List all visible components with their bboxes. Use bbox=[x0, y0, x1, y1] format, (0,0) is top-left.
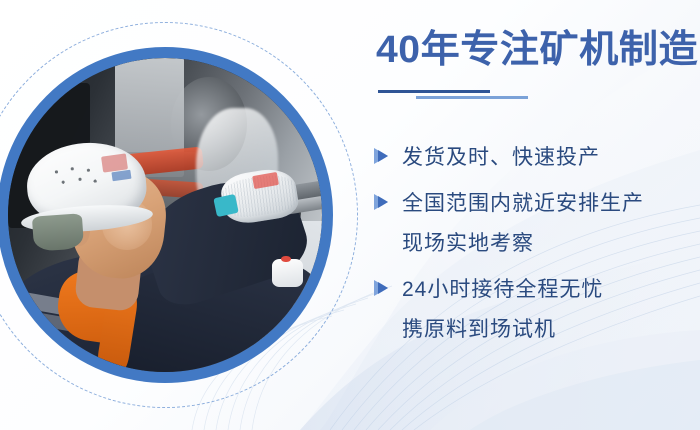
content-panel: 40年专注矿机制造 发货及时、快速投产 全国范围内就近安排生产 现场实地考察 bbox=[372, 0, 700, 430]
headline-rule-dark bbox=[378, 90, 490, 93]
list-item-text: 全国范围内就近安排生产 bbox=[402, 187, 644, 217]
promo-banner: 40年专注矿机制造 发货及时、快速投产 全国范围内就近安排生产 现场实地考察 bbox=[0, 0, 700, 430]
triangle-right-icon bbox=[372, 279, 392, 297]
worker-photo bbox=[0, 47, 333, 383]
triangle-right-icon bbox=[372, 193, 392, 211]
triangle-right-icon bbox=[372, 147, 392, 165]
headline: 40年专注矿机制造 bbox=[376, 28, 700, 72]
list-item-text: 携原料到场试机 bbox=[402, 313, 556, 343]
list-item: 全国范围内就近安排生产 现场实地考察 bbox=[372, 182, 700, 262]
headline-rule-light bbox=[416, 96, 528, 99]
list-item-text: 现场实地考察 bbox=[402, 227, 534, 257]
list-item: 24小时接待全程无忧 携原料到场试机 bbox=[372, 268, 700, 348]
list-item-text: 发货及时、快速投产 bbox=[402, 141, 600, 171]
list-item-text: 24小时接待全程无忧 bbox=[402, 273, 603, 303]
feature-list: 发货及时、快速投产 全国范围内就近安排生产 现场实地考察 24小时接待全程无忧 bbox=[372, 136, 700, 354]
list-item: 发货及时、快速投产 bbox=[372, 136, 700, 176]
